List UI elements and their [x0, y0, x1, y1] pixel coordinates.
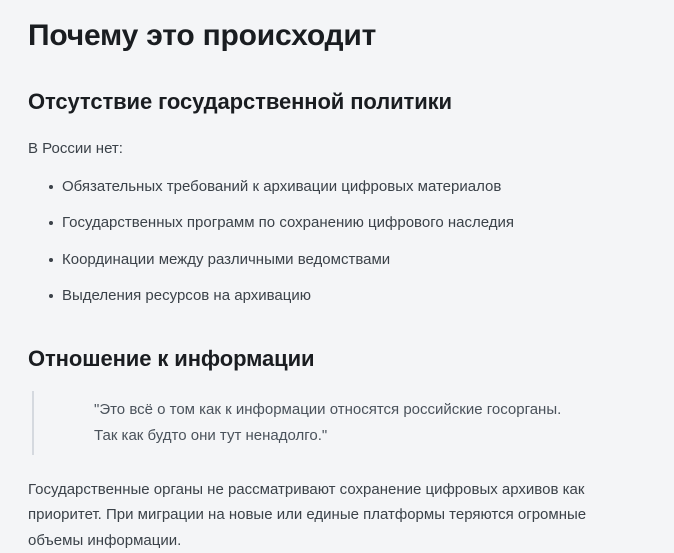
list-item: Обязательных требований к архивации цифр…	[28, 176, 640, 199]
section-heading-policy: Отсутствие государственной политики	[28, 88, 640, 116]
blockquote-line-2: Так как будто они тут ненадолго."	[94, 427, 327, 444]
policy-gap-list: Обязательных требований к архивации цифр…	[28, 176, 640, 308]
intro-text: В России нет:	[28, 137, 640, 160]
list-item: Координации между различными ведомствами	[28, 249, 640, 272]
blockquote-text: "Это всё о том как к информации относятс…	[34, 397, 561, 449]
section-heading-attitude: Отношение к информации	[28, 345, 640, 373]
list-item: Выделения ресурсов на архивацию	[28, 285, 640, 308]
closing-paragraph: Государственные органы не рассматривают …	[28, 477, 640, 553]
document-page: Почему это происходит Отсутствие государ…	[0, 0, 674, 550]
list-item: Государственных программ по сохранению ц…	[28, 212, 640, 235]
blockquote: "Это всё о том как к информации относятс…	[32, 391, 640, 455]
blockquote-line-1: "Это всё о том как к информации относятс…	[94, 401, 561, 418]
page-title: Почему это происходит	[28, 14, 640, 54]
